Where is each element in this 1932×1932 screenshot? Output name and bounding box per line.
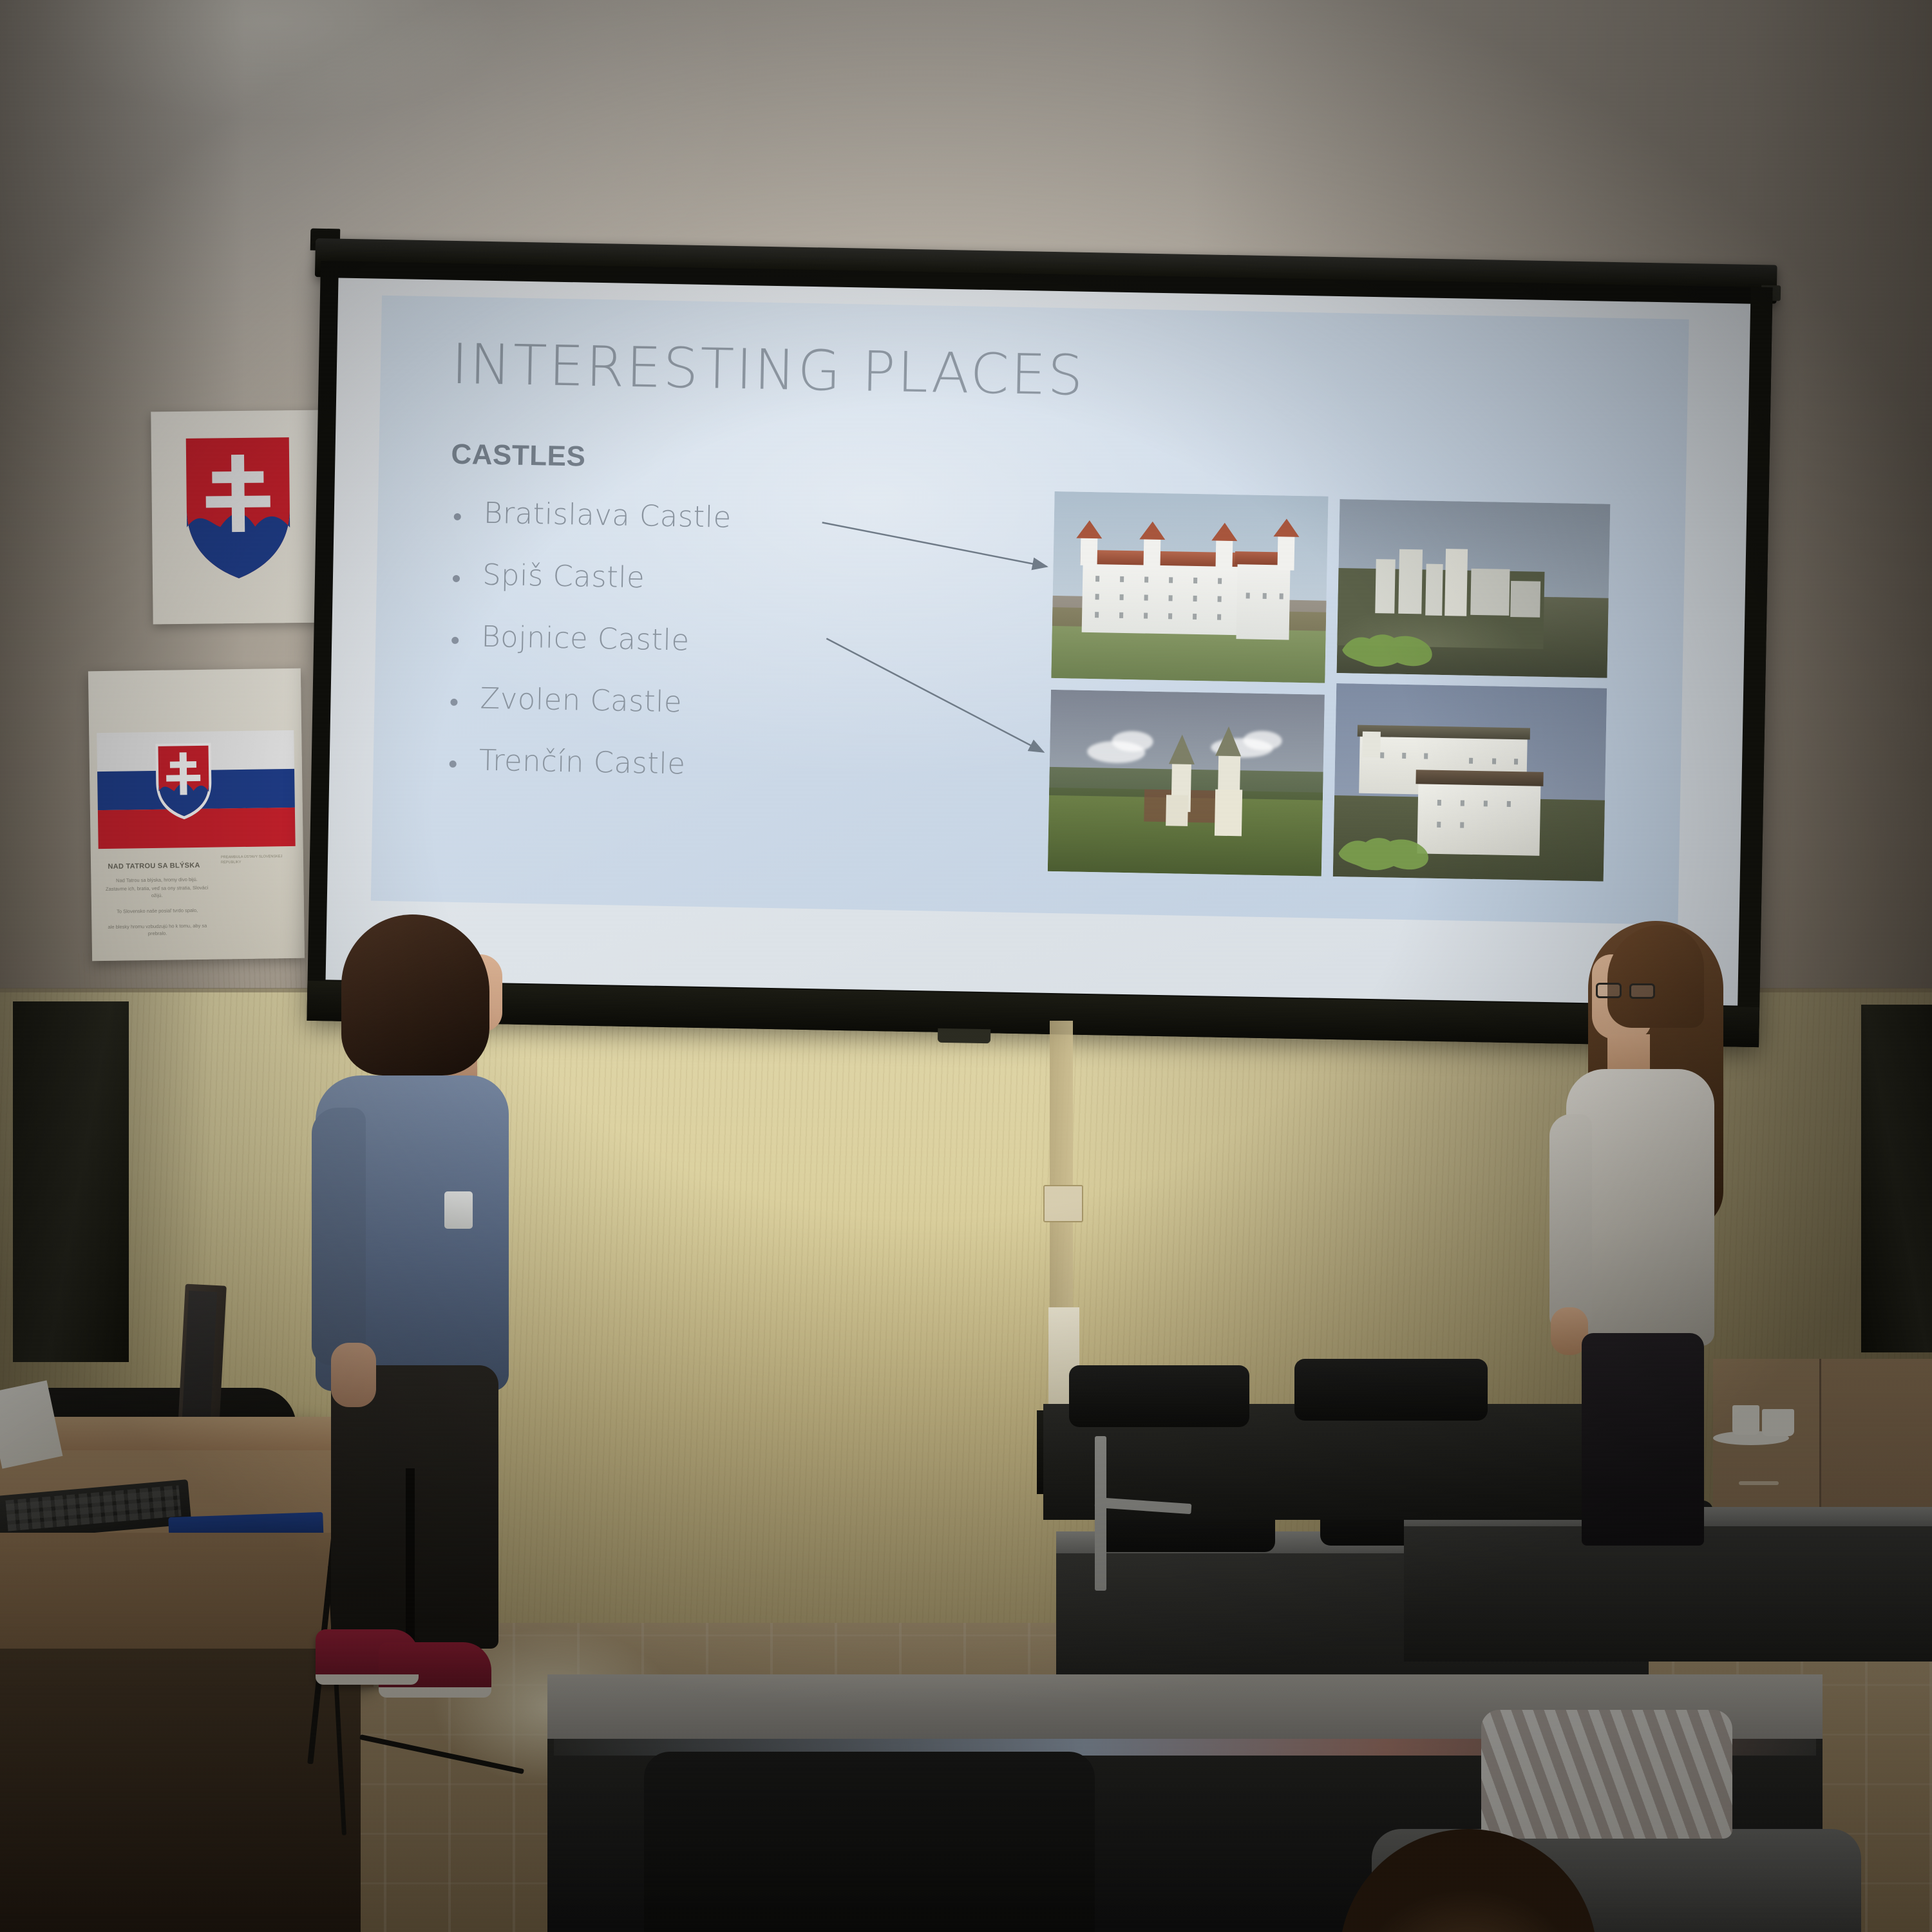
boy-arm	[312, 1108, 366, 1365]
boy-hand	[331, 1343, 376, 1407]
wall-speaker-right	[1861, 1005, 1932, 1352]
anthem-line-1: Nad Tatrou sa blýska, hromy divo bijú.	[101, 876, 212, 884]
screen-pull-handle[interactable]	[938, 1028, 990, 1043]
shoe-sole	[379, 1687, 491, 1698]
anthem-line-3: To Slovensko naše posiaľ tvrdo spalo,	[102, 907, 213, 915]
backpack-pattern	[1481, 1710, 1732, 1839]
chair-leg	[1095, 1436, 1106, 1591]
cabinet-handle[interactable]	[1739, 1481, 1779, 1485]
boy-trousers	[331, 1365, 498, 1649]
glasses-icon	[1596, 983, 1658, 999]
presenter-girl	[1546, 921, 1739, 1501]
chair[interactable]	[1069, 1365, 1249, 1427]
slovak-flag-poster: NAD TATROU SA BLÝSKA Nad Tatrou sa blýsk…	[88, 668, 305, 961]
slovak-coat-of-arms-icon	[184, 436, 293, 580]
chair[interactable]	[644, 1752, 1095, 1932]
castle-image-bojnice	[1048, 690, 1325, 876]
classroom-scene: NAD TATROU SA BLÝSKA Nad Tatrou sa blýsk…	[0, 0, 1932, 1932]
cup	[1762, 1409, 1794, 1436]
castle-image-bratislava	[1051, 491, 1328, 683]
desk-under-shadow	[0, 1649, 361, 1932]
girl-arm	[1549, 1114, 1592, 1333]
arrow-bojnice	[824, 638, 1045, 752]
arrow-bratislava	[822, 522, 1048, 566]
shoe-sole	[316, 1674, 419, 1685]
anthem-line-2: Zastavme ich, bratia, veď sa ony stratia…	[102, 884, 213, 900]
slovakia-map-overlay-icon	[1340, 628, 1437, 672]
presenter-boy	[316, 914, 522, 1739]
anthem-line-4: ale blesky hromu vzbudzujú ho k tomu, ab…	[102, 922, 213, 938]
wall-socket	[1043, 1185, 1083, 1222]
slovak-flag-icon	[97, 730, 295, 849]
constitution-preamble-heading: PREAMBULA ÚSTAVY SLOVENSKEJ REPUBLIKY	[221, 854, 297, 866]
anthem-heading: NAD TATROU SA BLÝSKA	[91, 862, 217, 871]
projected-slide: INTERESTING PLACES CASTLES Bratislava Ca…	[371, 296, 1689, 925]
castle-image-spis	[1337, 499, 1611, 678]
slovakia-map-overlay-icon	[1336, 831, 1433, 876]
castle-image-grid	[1048, 491, 1615, 885]
coat-of-arms-poster	[151, 410, 325, 625]
girl-trousers	[1582, 1333, 1704, 1546]
boy-leg-gap	[406, 1468, 415, 1655]
boy-hair	[341, 914, 489, 1075]
wall-speaker-left	[13, 1001, 129, 1362]
chair[interactable]	[1294, 1359, 1488, 1421]
tshirt-logo	[444, 1191, 473, 1229]
flag-shield-icon	[153, 742, 214, 821]
castle-image-zvolen	[1333, 683, 1607, 882]
